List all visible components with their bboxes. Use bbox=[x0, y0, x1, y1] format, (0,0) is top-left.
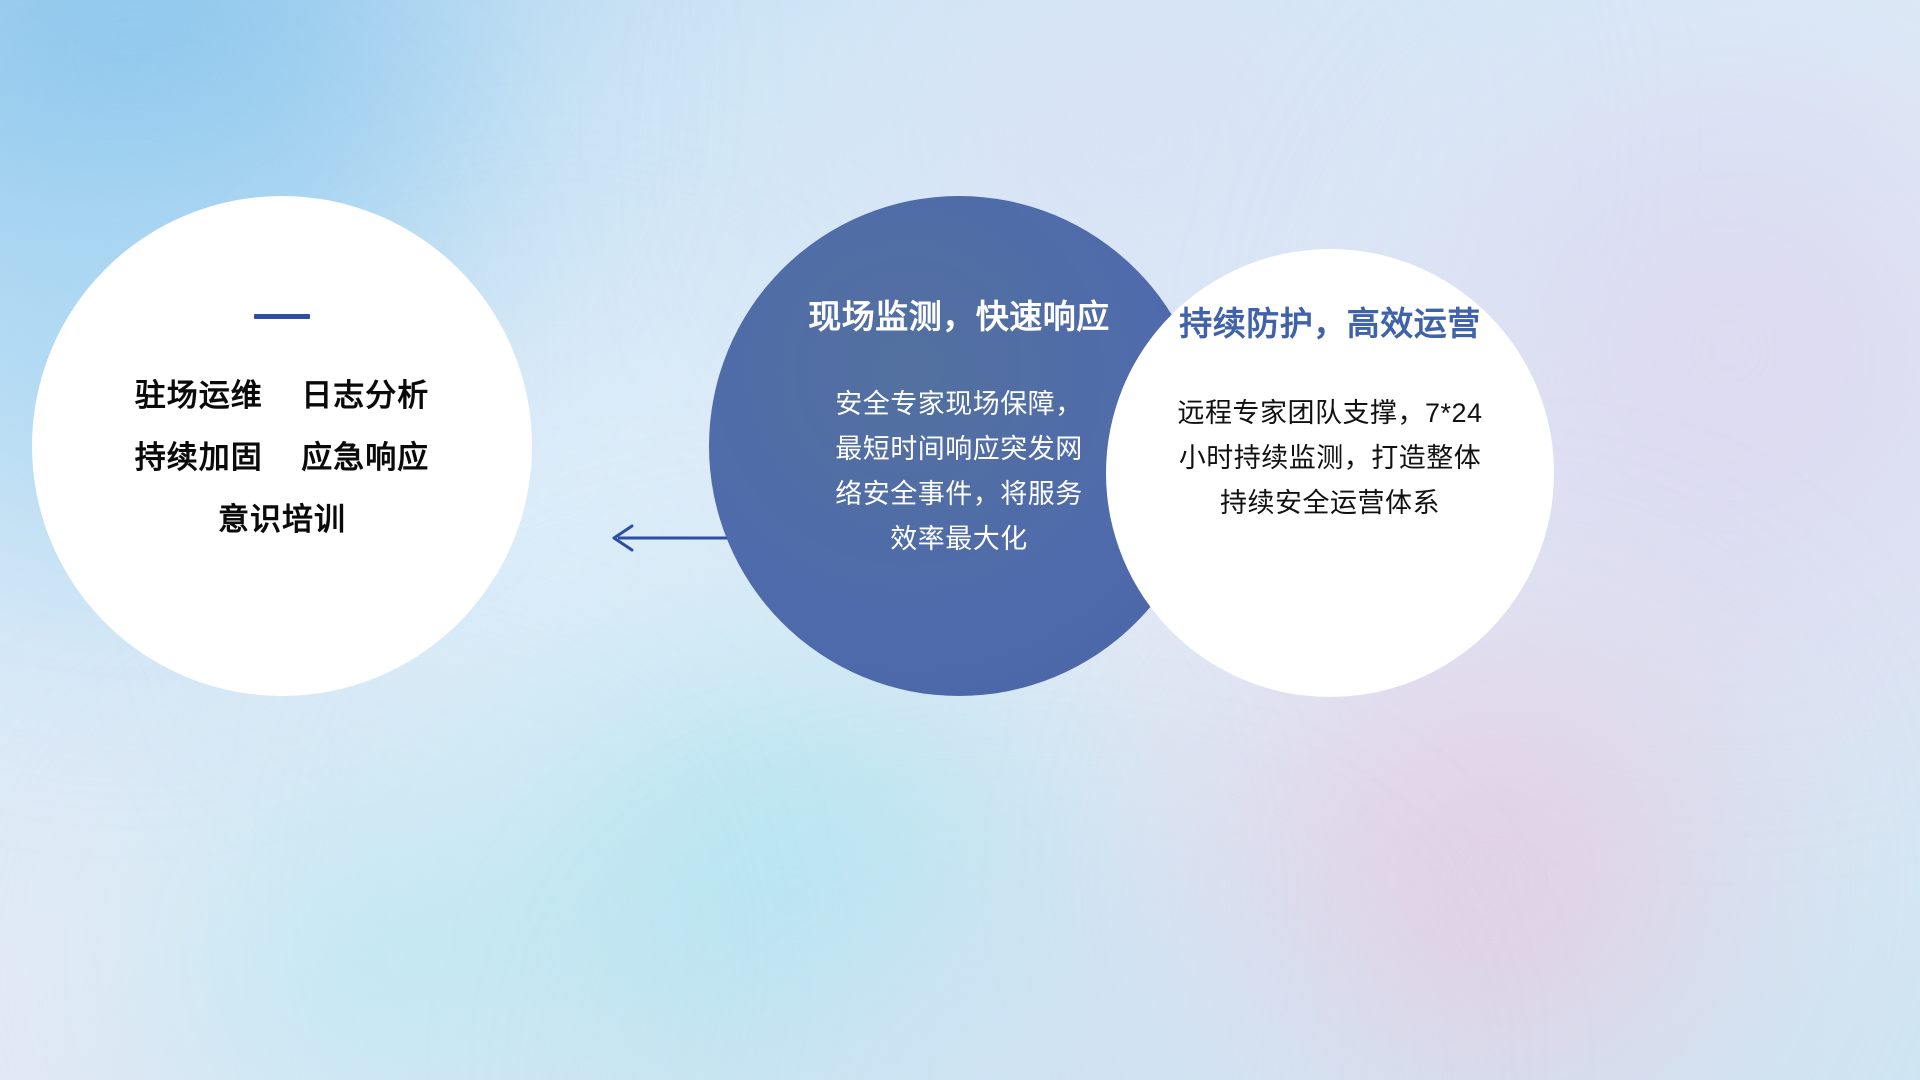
list-item: 持续加固 应急响应 bbox=[135, 427, 429, 489]
right-service-circle[interactable]: 持续防护，高效运营 远程专家团队支撑，7*24 小时持续监测，打造整体 持续安全… bbox=[1106, 249, 1554, 697]
right-card-title: 持续防护，高效运营 bbox=[1179, 297, 1481, 345]
body-line: 络安全事件，将服务 bbox=[809, 472, 1109, 517]
right-card-body: 远程专家团队支撑，7*24 小时持续监测，打造整体 持续安全运营体系 bbox=[1130, 391, 1530, 526]
list-item: 驻场运维 日志分析 bbox=[135, 365, 429, 427]
body-line: 最短时间响应突发网 bbox=[809, 427, 1109, 472]
middle-card-body: 安全专家现场保障， 最短时间响应突发网 络安全事件，将服务 效率最大化 bbox=[809, 382, 1109, 562]
body-line: 安全专家现场保障， bbox=[809, 382, 1109, 427]
slide-canvas: 驻场运维 日志分析 持续加固 应急响应 意识培训 现场监测，快速响应 安全专家现… bbox=[0, 0, 1920, 1080]
body-line: 持续安全运营体系 bbox=[1130, 481, 1530, 526]
list-item: 意识培训 bbox=[135, 489, 429, 551]
left-service-list: 驻场运维 日志分析 持续加固 应急响应 意识培训 bbox=[135, 365, 429, 551]
body-line: 远程专家团队支撑，7*24 bbox=[1130, 391, 1530, 436]
left-service-circle[interactable]: 驻场运维 日志分析 持续加固 应急响应 意识培训 bbox=[32, 196, 532, 696]
middle-card-title: 现场监测，快速响应 bbox=[808, 290, 1110, 338]
body-line: 小时持续监测，打造整体 bbox=[1130, 436, 1530, 481]
divider-dash bbox=[254, 314, 310, 319]
body-line: 效率最大化 bbox=[809, 517, 1109, 562]
